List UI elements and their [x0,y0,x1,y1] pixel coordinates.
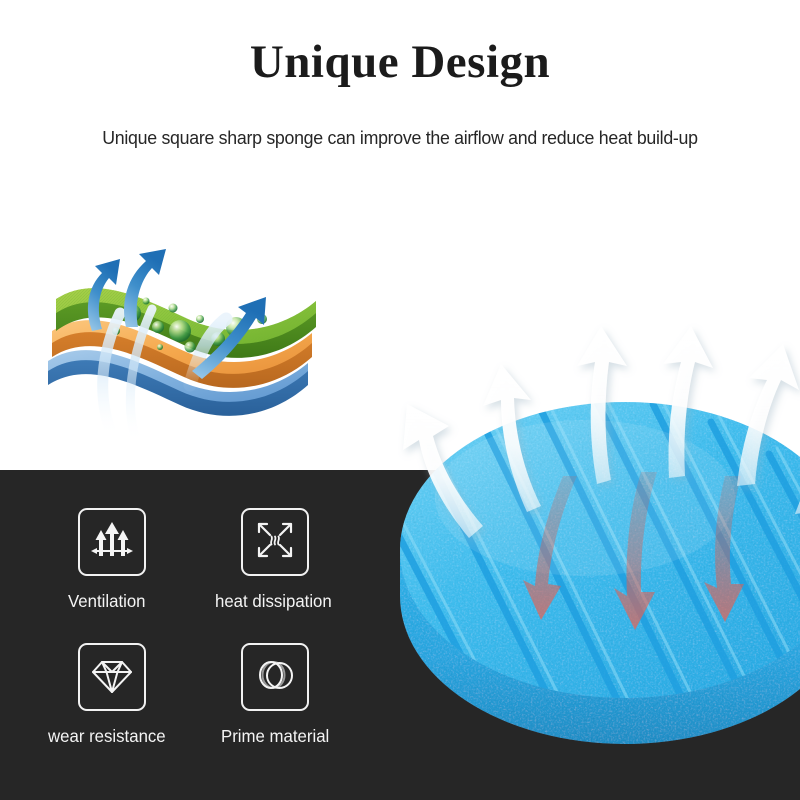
header-section: Unique Design Unique square sharp sponge… [0,0,800,170]
overlapping-discs-icon [253,653,297,702]
feature-icon-box [241,643,309,711]
page-title: Unique Design [0,36,800,88]
product-feature-banner: Unique Design Unique square sharp sponge… [0,0,800,800]
feature-item-heat-dissipation[interactable]: heat dissipation [223,508,393,612]
feature-item-ventilation[interactable]: Ventilation [60,508,230,612]
breathable-fabric-illustration [40,235,360,465]
feature-icon-box [241,508,309,576]
feature-label: heat dissipation [215,590,386,612]
sponge-disc-illustration [395,300,800,760]
feature-icon-box [78,508,146,576]
feature-item-prime-material[interactable]: Prime material [223,643,393,747]
feature-item-wear-resistance[interactable]: wear resistance [60,643,230,747]
feature-label: Ventilation [68,590,224,612]
heat-dissipation-icon [253,518,297,567]
feature-list: Ventilation [0,470,400,800]
upward-arrows-icon [90,518,134,567]
feature-icon-box [78,643,146,711]
diamond-icon [90,653,134,702]
feature-label: Prime material [221,725,386,747]
page-subtitle: Unique square sharp sponge can improve t… [16,126,784,150]
feature-label: wear resistance [48,725,223,747]
